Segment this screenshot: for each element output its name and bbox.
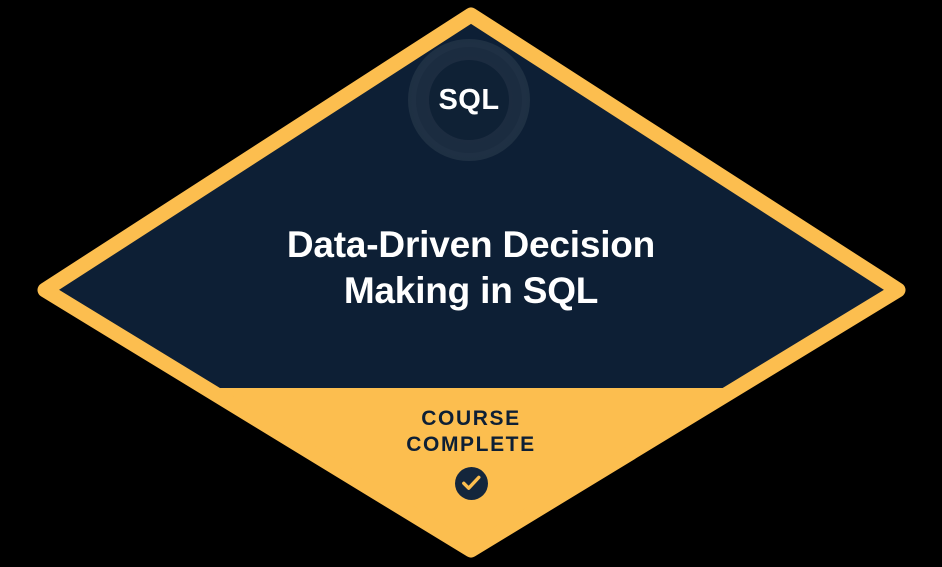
course-title: Data-Driven Decision Making in SQL (121, 222, 821, 314)
check-mark-icon (462, 475, 481, 492)
sql-logo-label: SQL (409, 40, 529, 160)
badge-canvas: SQL Data-Driven Decision Making in SQL C… (0, 0, 942, 567)
status-block: COURSE COMPLETE (271, 406, 671, 500)
completion-check-badge (455, 467, 488, 500)
status-badge: COURSE COMPLETE (271, 406, 671, 458)
sql-logo: SQL (409, 40, 529, 160)
